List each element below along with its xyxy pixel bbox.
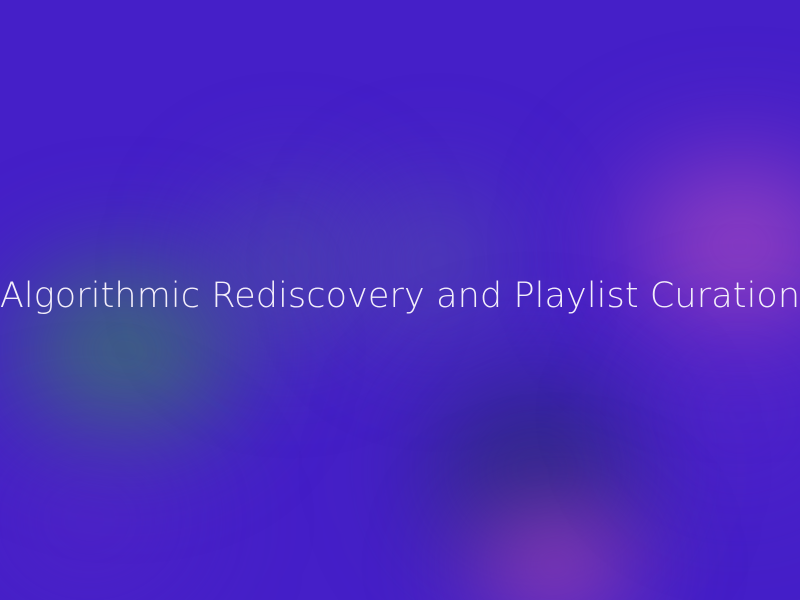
title-container: Algorithmic Rediscovery and Playlist Cur… [0,0,800,600]
slide-title: Algorithmic Rediscovery and Playlist Cur… [0,275,800,317]
title-slide: Algorithmic Rediscovery and Playlist Cur… [0,0,800,600]
